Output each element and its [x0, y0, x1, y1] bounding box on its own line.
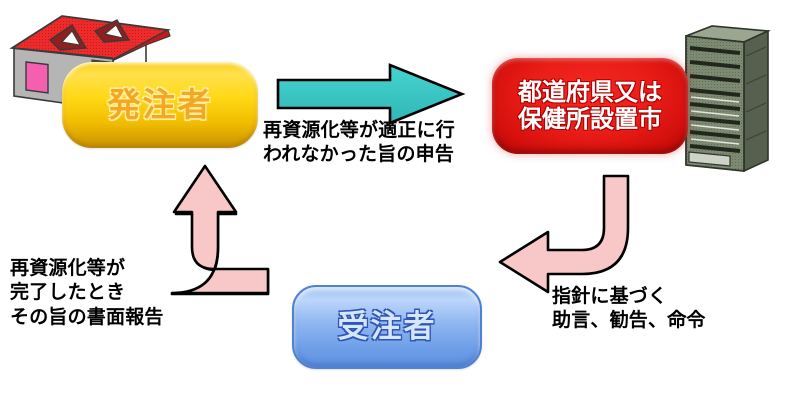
node-orderer[interactable]: 発注者 [62, 62, 258, 148]
office-building-icon [686, 26, 768, 171]
node-contractor[interactable]: 受注者 [292, 285, 482, 369]
node-contractor-label: 受注者 [338, 311, 437, 344]
node-orderer-label: 発注者 [108, 88, 213, 123]
node-prefecture[interactable]: 都道府県又は 保健所設置市 [492, 58, 688, 154]
caption-declaration: 再資源化等が適正に行 われなかった旨の申告 [263, 118, 455, 167]
caption-report: 再資源化等が 完了したとき その旨の書面報告 [10, 256, 164, 329]
node-prefecture-label: 都道府県又は 保健所設置市 [518, 79, 662, 133]
prefecture-to-contractor-arrow [500, 176, 628, 292]
contractor-to-orderer-arrow [172, 166, 268, 294]
orderer-to-prefecture-arrow [278, 65, 462, 123]
diagram-canvas: 発注者 都道府県又は 保健所設置市 受注者 再資源化等が適正に行 われなかった旨… [0, 0, 787, 418]
caption-guidance: 指針に基づく 助言、勧告、命令 [552, 284, 706, 333]
